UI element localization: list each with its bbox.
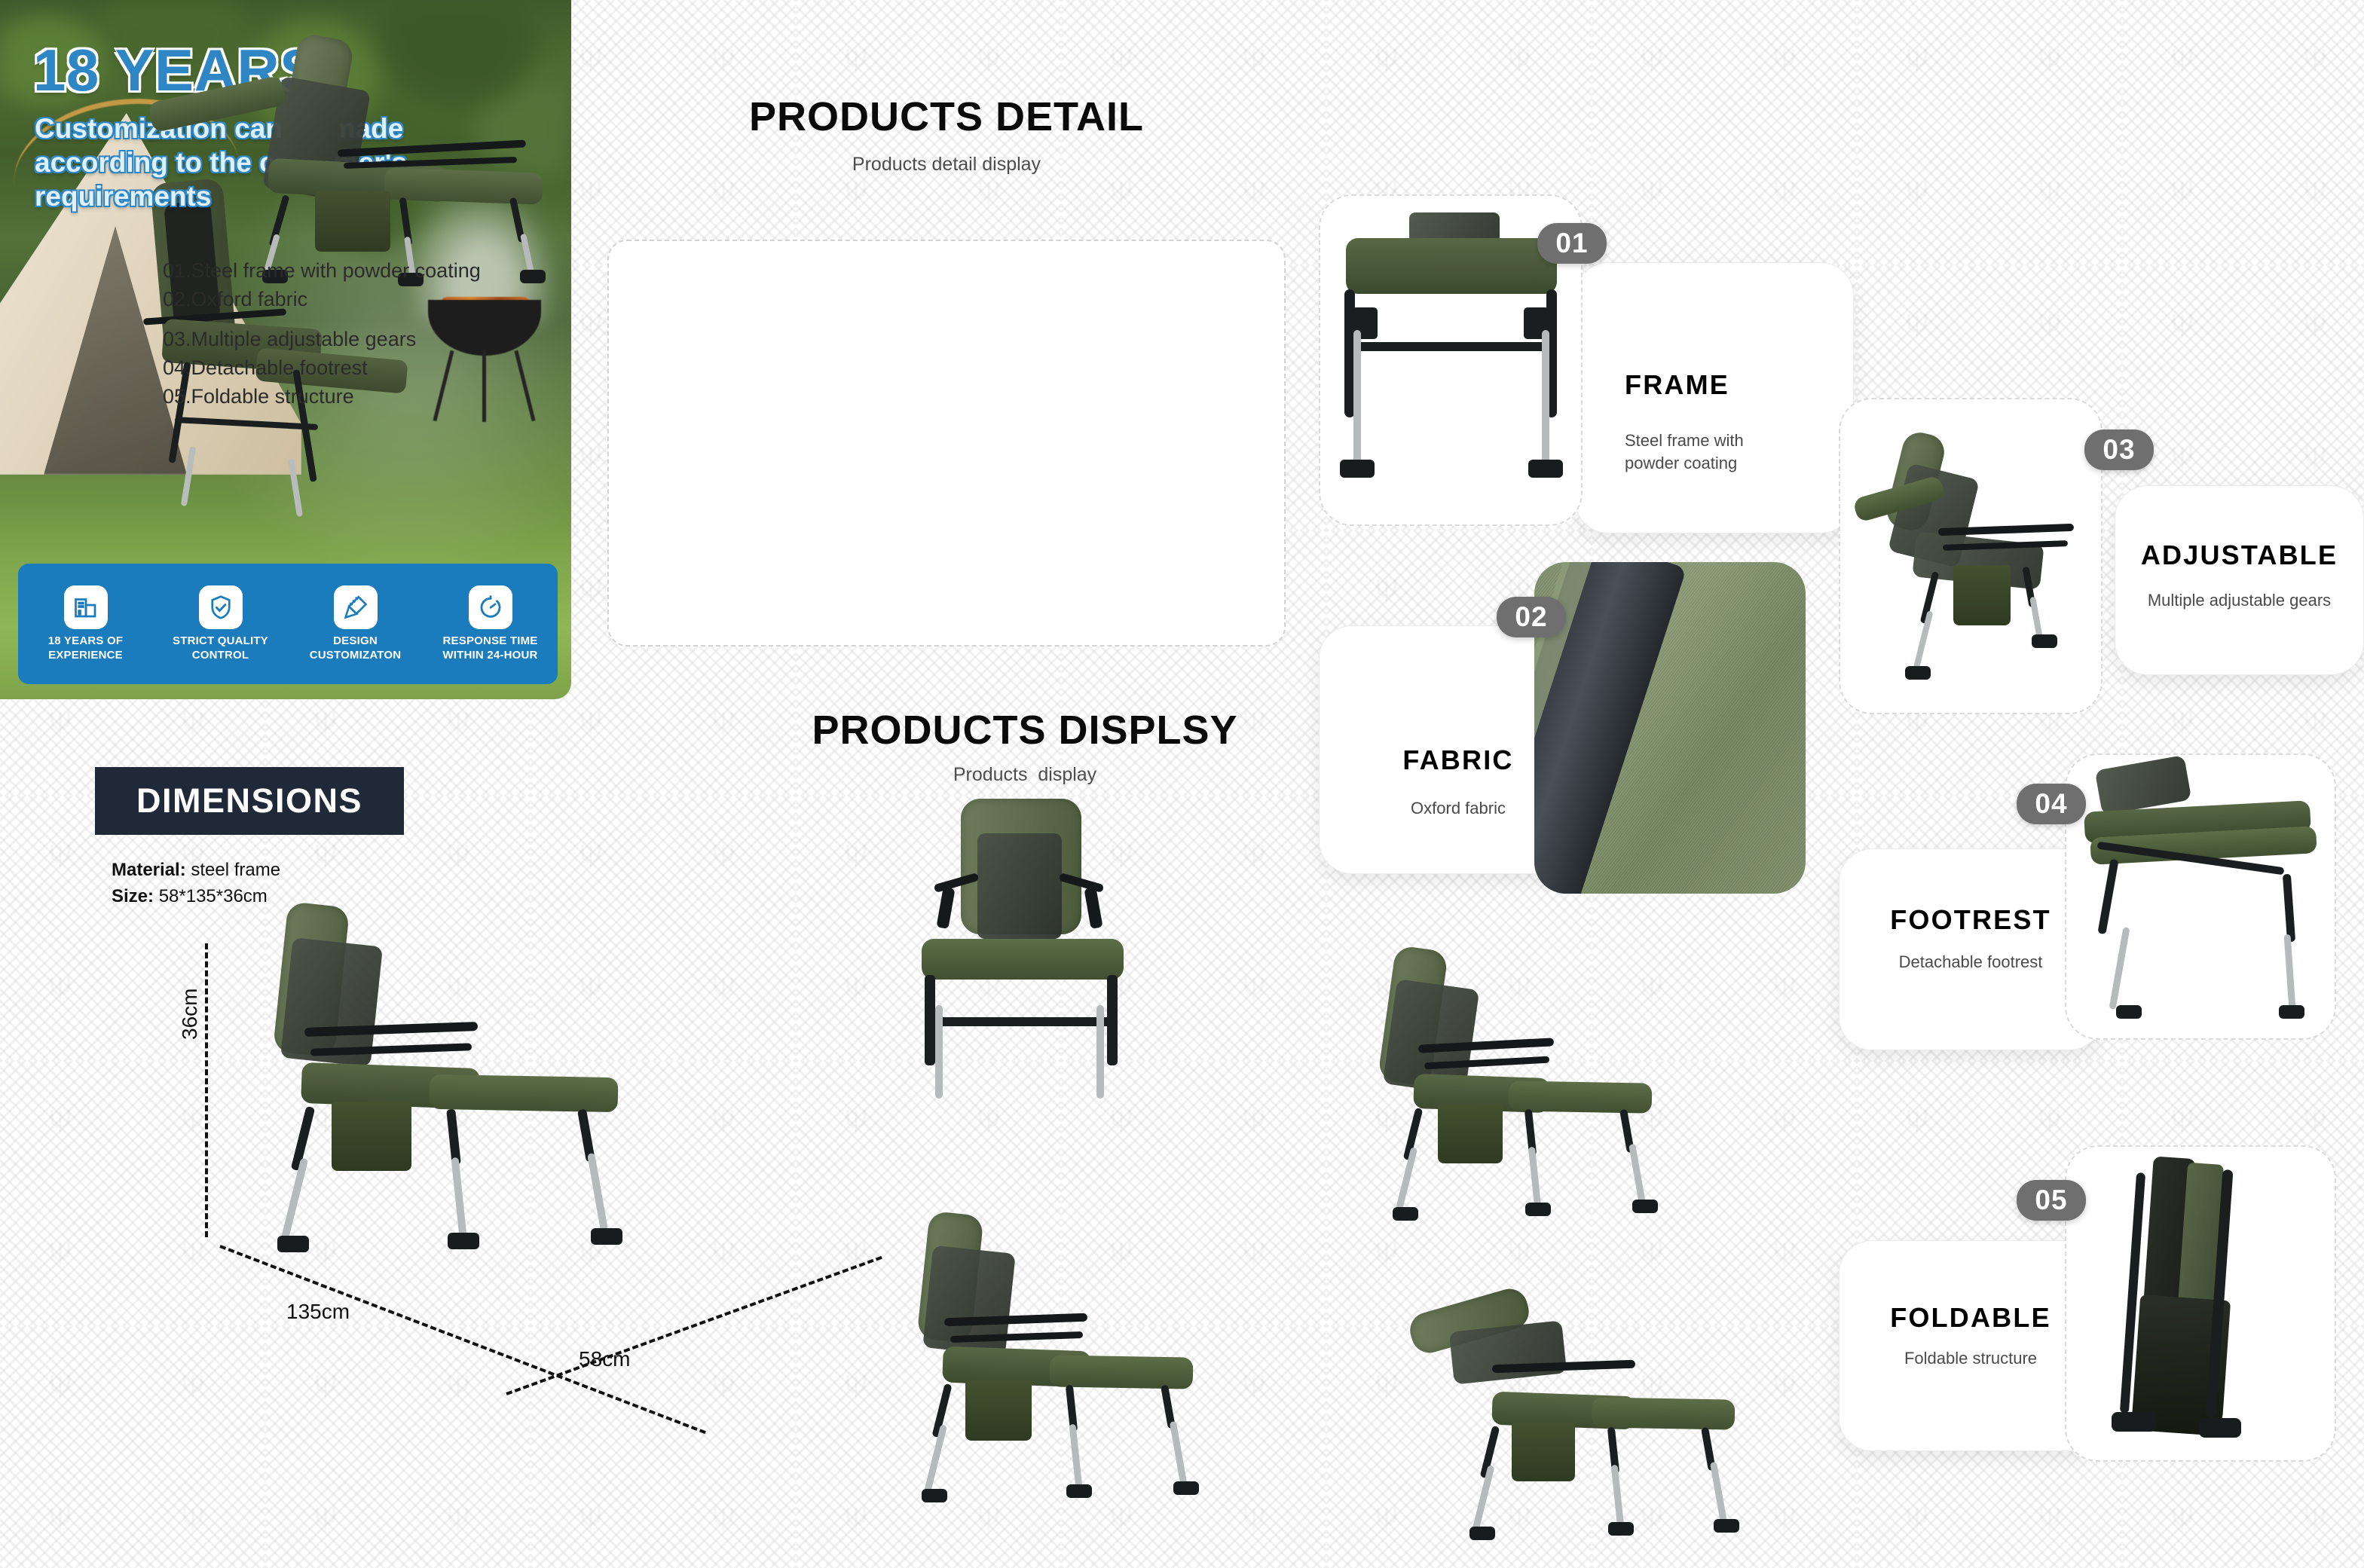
- watermark-logo-icon: Ψ: [576, 443, 606, 476]
- feature-card-fabric: 02 FABRIC Oxford fabric: [1319, 527, 1846, 904]
- watermark-logo-icon: Ψ: [2035, 178, 2065, 211]
- watermark-logo-icon: Ψ: [841, 1106, 871, 1139]
- watermark-logo-icon: Ψ: [443, 1504, 473, 1537]
- dimensions-banner: DIMENSIONS: [95, 767, 404, 835]
- watermark-logo-icon: Ψ: [2300, 1504, 2330, 1537]
- watermark-logo-icon: Ψ: [1239, 1106, 1269, 1139]
- feature-footrest-title: FOOTREST: [1839, 904, 2103, 936]
- detail-list-item: 01.Steel frame with powder coating: [163, 256, 660, 285]
- watermark-logo-icon: Ψ: [1902, 178, 1932, 211]
- feature-foldable-desc: Foldable structure: [1839, 1347, 2103, 1370]
- watermark-logo-icon: Ψ: [1239, 974, 1269, 1007]
- dimensions-size-label: Size:: [112, 886, 154, 906]
- watermark-logo-icon: Ψ: [2035, 1504, 2065, 1537]
- watermark-logo-icon: Ψ: [2300, 45, 2330, 78]
- hero-feature-label: DESIGN CUSTOMIZATON: [288, 634, 423, 663]
- watermark-logo-icon: Ψ: [1372, 45, 1402, 78]
- watermark-logo-icon: Ψ: [708, 1239, 739, 1272]
- feature-fabric-desc: Oxford fabric: [1319, 797, 1598, 820]
- watermark-logo-icon: Ψ: [443, 708, 473, 741]
- hero-feature-experience: 18 YEARS OF EXPERIENCE: [18, 585, 153, 663]
- factory-building-icon: [64, 585, 108, 629]
- watermark-logo-icon: Ψ: [2035, 1106, 2065, 1139]
- watermark-logo-icon: Ψ: [708, 708, 739, 741]
- feature-badge: 04: [2017, 784, 2086, 824]
- feature-fabric-image: [1534, 562, 1806, 894]
- watermark-logo-icon: Ψ: [708, 45, 739, 78]
- watermark-logo-icon: Ψ: [2300, 310, 2330, 344]
- hero-feature-quality: STRICT QUALITY CONTROL: [153, 585, 288, 663]
- watermark-logo-icon: Ψ: [443, 841, 473, 874]
- feature-fabric-title: FABRIC: [1319, 744, 1598, 776]
- watermark-logo-icon: Ψ: [45, 974, 75, 1007]
- display-chair-front: [878, 791, 1164, 1100]
- watermark-logo-icon: Ψ: [576, 841, 606, 874]
- watermark-logo-icon: Ψ: [1106, 1106, 1136, 1139]
- watermark-logo-icon: Ψ: [1769, 974, 1800, 1007]
- watermark-logo-icon: Ψ: [576, 178, 606, 211]
- watermark-logo-icon: Ψ: [1239, 178, 1269, 211]
- watermark-logo-icon: Ψ: [974, 45, 1004, 78]
- dimensions-chair-image: [241, 897, 708, 1319]
- watermark-logo-icon: Ψ: [45, 1106, 75, 1139]
- feature-card-adjustable: 03 ADJUSTABLE Multiple adjustable gears: [1824, 392, 2364, 753]
- watermark-logo-icon: Ψ: [2300, 178, 2330, 211]
- watermark-logo-icon: Ψ: [45, 708, 75, 741]
- watermark-logo-icon: Ψ: [1902, 310, 1932, 344]
- watermark-logo-icon: Ψ: [1637, 45, 1667, 78]
- feature-badge: 02: [1497, 597, 1566, 637]
- watermark-logo-icon: Ψ: [841, 974, 871, 1007]
- hero-feature-label: RESPONSE TIME WITHIN 24-HOUR: [423, 634, 558, 663]
- watermark-logo-icon: Ψ: [576, 1504, 606, 1537]
- feature-card-footrest: 04 FOOTREST Detachable footrest: [1839, 753, 2364, 1070]
- product-detail-card: [607, 240, 1286, 646]
- watermark-logo-icon: Ψ: [576, 576, 606, 609]
- pencil-ruler-icon: [334, 585, 378, 629]
- feature-badge: 01: [1537, 223, 1607, 264]
- watermark-logo-icon: Ψ: [1239, 1371, 1269, 1404]
- hero-feature-bar: 18 YEARS OF EXPERIENCE STRICT QUALITY CO…: [18, 564, 558, 684]
- watermark-logo-icon: Ψ: [708, 1106, 739, 1139]
- watermark-logo-icon: Ψ: [1769, 1371, 1800, 1404]
- watermark-logo-icon: Ψ: [1504, 1239, 1534, 1272]
- hero-feature-label: 18 YEARS OF EXPERIENCE: [18, 634, 153, 663]
- watermark-logo-icon: Ψ: [2167, 1106, 2197, 1139]
- watermark-logo-icon: Ψ: [1769, 1504, 1800, 1537]
- feature-adjustable-desc: Multiple adjustable gears: [2115, 589, 2364, 612]
- watermark-logo-icon: Ψ: [1239, 1504, 1269, 1537]
- detail-chair-image: [136, 30, 573, 256]
- watermark-logo-icon: Ψ: [1902, 1106, 1932, 1139]
- watermark-logo-icon: Ψ: [1769, 1239, 1800, 1272]
- hero-feature-design: DESIGN CUSTOMIZATON: [288, 585, 423, 663]
- watermark-logo-icon: Ψ: [45, 1504, 75, 1537]
- watermark-logo-icon: Ψ: [1372, 1239, 1402, 1272]
- display-section-title: PRODUCTS DISPLSY: [799, 707, 1251, 753]
- feature-adjustable-text-panel: [2115, 485, 2364, 675]
- watermark-logo-icon: Ψ: [310, 1504, 341, 1537]
- watermark-logo-icon: Ψ: [178, 1106, 208, 1139]
- detail-list-item: 04.Detachable footrest: [163, 353, 660, 382]
- detail-list-item: 03.Multiple adjustable gears: [163, 325, 660, 353]
- height-dimension-label: 36cm: [178, 989, 202, 1040]
- feature-card-frame: 01 FRAME Steel frame with powder coating: [1311, 194, 1854, 549]
- watermark-logo-icon: Ψ: [1637, 1239, 1667, 1272]
- watermark-logo-icon: Ψ: [2300, 1106, 2330, 1139]
- watermark-logo-icon: Ψ: [1239, 841, 1269, 874]
- detail-list-item: 02.Oxford fabric: [163, 285, 660, 313]
- watermark-logo-icon: Ψ: [443, 1371, 473, 1404]
- feature-card-foldable: 05 FOLDABLE Foldable structure: [1839, 1145, 2364, 1477]
- watermark-logo-icon: Ψ: [708, 178, 739, 211]
- watermark-logo-icon: Ψ: [1106, 178, 1136, 211]
- watermark-logo-icon: Ψ: [708, 1371, 739, 1404]
- detail-section-title: PRODUCTS DETAIL: [607, 93, 1286, 140]
- display-chair-reclined: [848, 1206, 1194, 1522]
- watermark-logo-icon: Ψ: [2167, 310, 2197, 344]
- width-dimension-label: 58cm: [579, 1347, 630, 1371]
- watermark-logo-icon: Ψ: [45, 841, 75, 874]
- display-section-subtitle: Products display: [799, 764, 1251, 786]
- feature-foldable-image: [2065, 1145, 2336, 1462]
- watermark-logo-icon: Ψ: [310, 841, 341, 874]
- watermark-logo-icon: Ψ: [1504, 45, 1534, 78]
- feature-adjustable-title: ADJUSTABLE: [2115, 539, 2364, 571]
- watermark-logo-icon: Ψ: [576, 708, 606, 741]
- feature-adjustable-image: [1839, 398, 2103, 714]
- dimensions-banner-label: DIMENSIONS: [136, 781, 362, 821]
- watermark-logo-icon: Ψ: [841, 178, 871, 211]
- watermark-logo-icon: Ψ: [974, 1106, 1004, 1139]
- watermark-logo-icon: Ψ: [2035, 45, 2065, 78]
- watermark-logo-icon: Ψ: [708, 841, 739, 874]
- watermark-logo-icon: Ψ: [2167, 178, 2197, 211]
- display-chair-flat: [1379, 1281, 1726, 1545]
- feature-frame-desc: Steel frame with powder coating: [1625, 429, 1851, 474]
- watermark-logo-icon: Ψ: [1902, 1504, 1932, 1537]
- watermark-logo-icon: Ψ: [310, 708, 341, 741]
- watermark-logo-icon: Ψ: [1239, 45, 1269, 78]
- feature-foldable-text-panel: [1839, 1240, 2103, 1451]
- feature-frame-title: FRAME: [1625, 369, 1729, 401]
- watermark-logo-icon: Ψ: [1769, 45, 1800, 78]
- detail-list-item: 05.Foldable structure: [163, 382, 660, 411]
- display-chair-angled: [1311, 942, 1658, 1243]
- watermark-logo-icon: Ψ: [1239, 1239, 1269, 1272]
- watermark-logo-icon: Ψ: [178, 708, 208, 741]
- feature-badge: 05: [2017, 1180, 2086, 1221]
- feature-footrest-image: [2065, 753, 2336, 1040]
- watermark-logo-icon: Ψ: [178, 1504, 208, 1537]
- watermark-logo-icon: Ψ: [178, 1239, 208, 1272]
- watermark-logo-icon: Ψ: [974, 178, 1004, 211]
- shield-check-icon: [199, 585, 243, 629]
- detail-feature-list: 01.Steel frame with powder coating 02.Ox…: [163, 256, 660, 411]
- feature-footrest-text-panel: [1839, 848, 2103, 1050]
- watermark-logo-icon: Ψ: [45, 1239, 75, 1272]
- watermark-logo-icon: Ψ: [708, 1504, 739, 1537]
- watermark-logo-icon: Ψ: [576, 45, 606, 78]
- watermark-logo-icon: Ψ: [310, 1371, 341, 1404]
- watermark-logo-icon: Ψ: [1902, 45, 1932, 78]
- detail-section-subtitle: Products detail display: [607, 154, 1286, 176]
- stopwatch-icon: [469, 585, 512, 629]
- watermark-logo-icon: Ψ: [2167, 1504, 2197, 1537]
- watermark-logo-icon: Ψ: [708, 974, 739, 1007]
- dimensions-material-value: steel frame: [191, 860, 280, 880]
- feature-foldable-title: FOLDABLE: [1839, 1302, 2103, 1334]
- dimensions-material-label: Material:: [112, 860, 186, 880]
- watermark-logo-icon: Ψ: [841, 841, 871, 874]
- height-dimension-line: [205, 943, 208, 1237]
- hero-feature-response: RESPONSE TIME WITHIN 24-HOUR: [423, 585, 558, 663]
- feature-footrest-desc: Detachable footrest: [1839, 951, 2103, 974]
- feature-badge: 03: [2084, 429, 2154, 470]
- watermark-logo-icon: Ψ: [2035, 310, 2065, 344]
- watermark-logo-icon: Ψ: [178, 1371, 208, 1404]
- hero-feature-label: STRICT QUALITY CONTROL: [153, 634, 288, 663]
- watermark-logo-icon: Ψ: [1106, 45, 1136, 78]
- watermark-logo-icon: Ψ: [1769, 1106, 1800, 1139]
- watermark-logo-icon: Ψ: [2167, 45, 2197, 78]
- dimensions-material-row: Material: steel frame: [112, 857, 280, 884]
- watermark-logo-icon: Ψ: [841, 45, 871, 78]
- watermark-logo-icon: Ψ: [45, 1371, 75, 1404]
